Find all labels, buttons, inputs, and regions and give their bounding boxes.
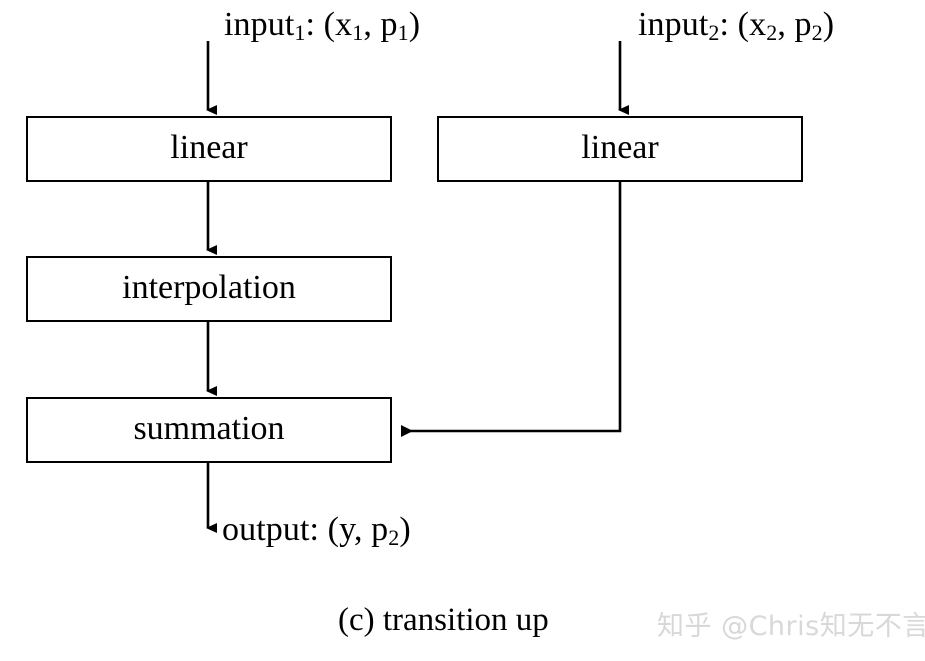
output-separator: :: [310, 511, 328, 548]
node-interpolation-label: interpolation: [28, 269, 390, 307]
input-1-tuple-mid: , p: [363, 6, 397, 43]
input-2-tuple-mid: , p: [777, 6, 811, 43]
edge-linear-right-to-summation: [402, 181, 620, 431]
node-linear-right: linear: [437, 116, 803, 182]
output-p-subscript: 2: [388, 525, 399, 550]
input-2-p-subscript: 2: [812, 20, 823, 45]
input-2-tuple-close: ): [823, 6, 834, 43]
input-1-x-subscript: 1: [352, 20, 363, 45]
flow-connectors: [0, 0, 925, 661]
node-summation: summation: [26, 397, 392, 463]
flow-diagram: input1: (x1, p1) input2: (x2, p2) linear…: [0, 0, 925, 661]
watermark: 知乎 @Chris知无不言: [657, 604, 925, 643]
output-tuple-open: (y, p: [328, 511, 389, 548]
node-linear-left: linear: [26, 116, 392, 182]
input-2-tuple-open: (x: [738, 6, 767, 43]
node-interpolation: interpolation: [26, 256, 392, 322]
input-2-x-subscript: 2: [766, 20, 777, 45]
input-2-name: input: [638, 6, 708, 43]
output-label: output: (y, p2): [222, 513, 411, 549]
output-name: output: [222, 511, 310, 548]
node-linear-left-label: linear: [28, 129, 390, 167]
input-1-label: input1: (x1, p1): [224, 8, 420, 44]
input-1-name: input: [224, 6, 294, 43]
node-summation-label: summation: [28, 410, 390, 448]
input-1-tuple-open: (x: [324, 6, 353, 43]
input-1-separator: :: [306, 6, 324, 43]
input-2-subscript: 2: [708, 20, 719, 45]
node-linear-right-label: linear: [439, 129, 801, 167]
input-2-separator: :: [720, 6, 738, 43]
figure-caption: (c) transition up: [338, 604, 549, 637]
output-tuple-close: ): [399, 511, 410, 548]
input-2-label: input2: (x2, p2): [638, 8, 834, 44]
input-1-subscript: 1: [294, 20, 305, 45]
input-1-tuple-close: ): [409, 6, 420, 43]
input-1-p-subscript: 1: [398, 20, 409, 45]
